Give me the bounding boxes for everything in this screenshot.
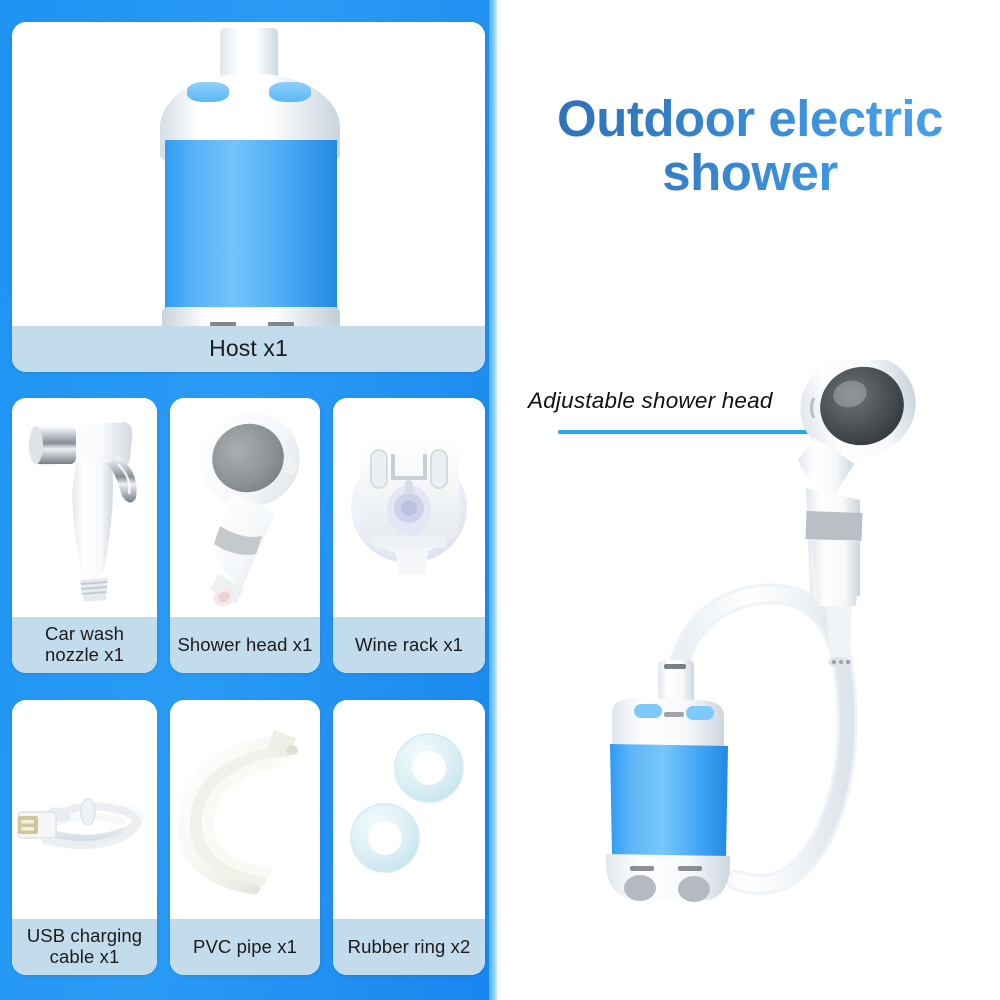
- panel-edge-highlight: [489, 0, 497, 1000]
- caption-line2: cable x1: [50, 946, 120, 967]
- contents-card-pvc-pipe: PVC pipe x1: [170, 700, 320, 975]
- caption-rubber-ring: Rubber ring x2: [333, 919, 485, 975]
- host-body: [165, 140, 337, 315]
- wine-rack-illustration: [333, 398, 485, 618]
- caption-line2: nozzle x1: [45, 644, 124, 665]
- caption-line1: Car wash: [45, 623, 124, 644]
- caption-wine-rack: Wine rack x1: [333, 617, 485, 673]
- rubber-ring-illustration: [333, 700, 485, 920]
- contents-card-car-wash-nozzle: Car washnozzle x1: [12, 398, 157, 673]
- caption-shower-head: Shower head x1: [170, 617, 320, 673]
- contents-card-rubber-ring: Rubber ring x2: [333, 700, 485, 975]
- caption-host: Host x1: [12, 326, 485, 372]
- title-line-1: Outdoor electric: [500, 92, 1000, 146]
- host-product-photo: [12, 22, 485, 372]
- title-line-2: shower: [500, 146, 1000, 200]
- caption-pvc-pipe: PVC pipe x1: [170, 919, 320, 975]
- contents-card-usb-cable: USB chargingcable x1: [12, 700, 157, 975]
- contents-card-shower-head: Shower head x1: [170, 398, 320, 673]
- product-infographic: Host x1: [0, 0, 1000, 1000]
- page-title: Outdoor electric shower: [500, 92, 1000, 199]
- host-button-right: [269, 82, 311, 102]
- caption-car-wash-nozzle: Car washnozzle x1: [12, 617, 157, 673]
- contents-card-wine-rack: Wine rack x1: [333, 398, 485, 673]
- shower-head-illustration: [170, 398, 320, 618]
- caption-line1: USB charging: [27, 925, 142, 946]
- pvc-pipe-illustration: [170, 700, 320, 920]
- hero-product-photo: [560, 360, 980, 960]
- contents-card-host: Host x1: [12, 22, 485, 372]
- usb-cable-illustration: [12, 700, 157, 920]
- caption-usb-cable: USB chargingcable x1: [12, 919, 157, 975]
- hero-illustration: [560, 360, 980, 960]
- host-button-left: [187, 82, 229, 102]
- car-wash-nozzle-illustration: [12, 398, 157, 618]
